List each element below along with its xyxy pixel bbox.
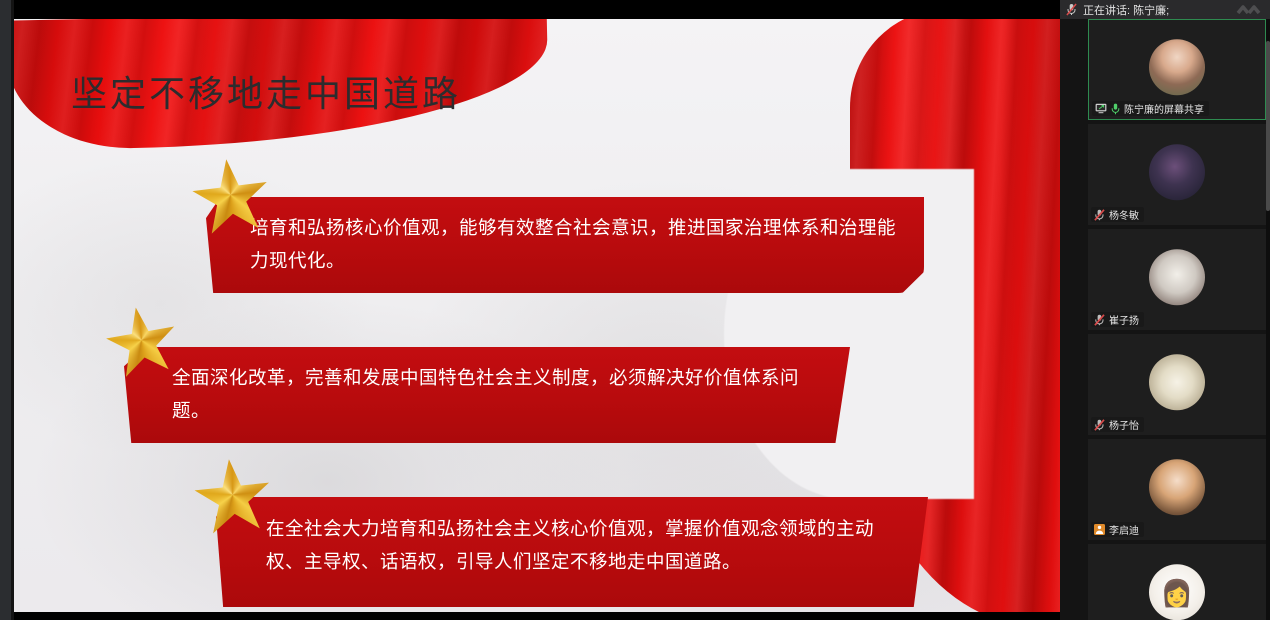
participant-sidebar: 正在讲话: 陈宁廉; — [1060, 0, 1270, 620]
participant-tile[interactable]: 崔子扬 — [1088, 229, 1266, 330]
slide-bullet-text: 培育和弘扬核心价值观，能够有效整合社会意识，推进国家治理体系和治理能力现代化。 — [250, 212, 902, 278]
participant-name: 陈宁廉的屏幕共享 — [1124, 101, 1204, 116]
participant-tile-list: 陈宁廉的屏幕共享 杨冬敏 — [1060, 19, 1270, 620]
microphone-muted-icon — [1094, 419, 1105, 431]
sidebar-scrollbar-thumb[interactable] — [1266, 41, 1270, 211]
letterbox-bottom — [14, 612, 1060, 620]
avatar — [1149, 459, 1205, 515]
participant-name: 杨冬敏 — [1109, 207, 1139, 222]
slide-title: 坚定不移地走中国道路 — [71, 65, 461, 117]
meeting-screen-share-window: 坚定不移地走中国道路 培育和弘扬核心价值观，能够有效整合社会意识，推进国家治理体… — [0, 0, 1270, 620]
collapse-chevron-icon[interactable] — [1234, 4, 1264, 16]
slide-bullet-ribbon: 在全社会大力培育和弘扬社会主义核心价值观，掌握价值观念领域的主动权、主导权、话语… — [216, 497, 928, 607]
window-left-frame — [0, 0, 14, 620]
participant-tile[interactable]: 👩 应用统计20234156孙玉沛 — [1088, 544, 1266, 620]
screen-share-icon — [1095, 103, 1107, 114]
slide-bullet-text: 在全社会大力培育和弘扬社会主义核心价值观，掌握价值观念领域的主动权、主导权、话语… — [266, 513, 906, 579]
participant-tile[interactable]: 李启迪 — [1088, 439, 1266, 540]
participant-tile[interactable]: 杨子怡 — [1088, 334, 1266, 435]
participant-name: 杨子怡 — [1109, 417, 1139, 432]
shared-slide[interactable]: 坚定不移地走中国道路 培育和弘扬核心价值观，能够有效整合社会意识，推进国家治理体… — [14, 19, 1060, 612]
raise-hand-icon — [1094, 524, 1105, 535]
avatar — [1149, 39, 1205, 95]
microphone-unmuted-icon — [1111, 103, 1120, 115]
avatar — [1149, 354, 1205, 410]
sidebar-scrollbar-track[interactable] — [1266, 19, 1270, 620]
cartoon-face-icon: 👩 — [1161, 580, 1193, 606]
avatar — [1149, 249, 1205, 305]
avatar: 👩 — [1149, 564, 1205, 620]
letterbox-top — [14, 0, 1060, 19]
slide-bullet-text: 全面深化改革，完善和发展中国特色社会主义制度，必须解决好价值体系问题。 — [172, 362, 828, 428]
avatar — [1149, 144, 1205, 200]
participant-label: 崔子扬 — [1091, 312, 1144, 327]
active-speaker-label: 正在讲话: 陈宁廉; — [1083, 2, 1228, 18]
microphone-muted-icon — [1094, 209, 1105, 221]
participant-name: 李启迪 — [1109, 522, 1139, 537]
microphone-muted-icon — [1066, 3, 1077, 16]
microphone-muted-icon — [1094, 314, 1105, 326]
slide-bullet-ribbon: 培育和弘扬核心价值观，能够有效整合社会意识，推进国家治理体系和治理能力现代化。 — [206, 197, 924, 293]
participant-label: 陈宁廉的屏幕共享 — [1092, 101, 1209, 116]
participant-label: 李启迪 — [1091, 522, 1144, 537]
window-left-frame-inner — [11, 0, 14, 620]
participant-tile[interactable]: 杨冬敏 — [1088, 124, 1266, 225]
participant-tile[interactable]: 陈宁廉的屏幕共享 — [1088, 19, 1266, 120]
slide-bullet-ribbon: 全面深化改革，完善和发展中国特色社会主义制度，必须解决好价值体系问题。 — [124, 347, 850, 443]
active-speaker-bar: 正在讲话: 陈宁廉; — [1060, 0, 1270, 19]
participant-name: 崔子扬 — [1109, 312, 1139, 327]
participant-label: 杨子怡 — [1091, 417, 1144, 432]
participant-label: 杨冬敏 — [1091, 207, 1144, 222]
